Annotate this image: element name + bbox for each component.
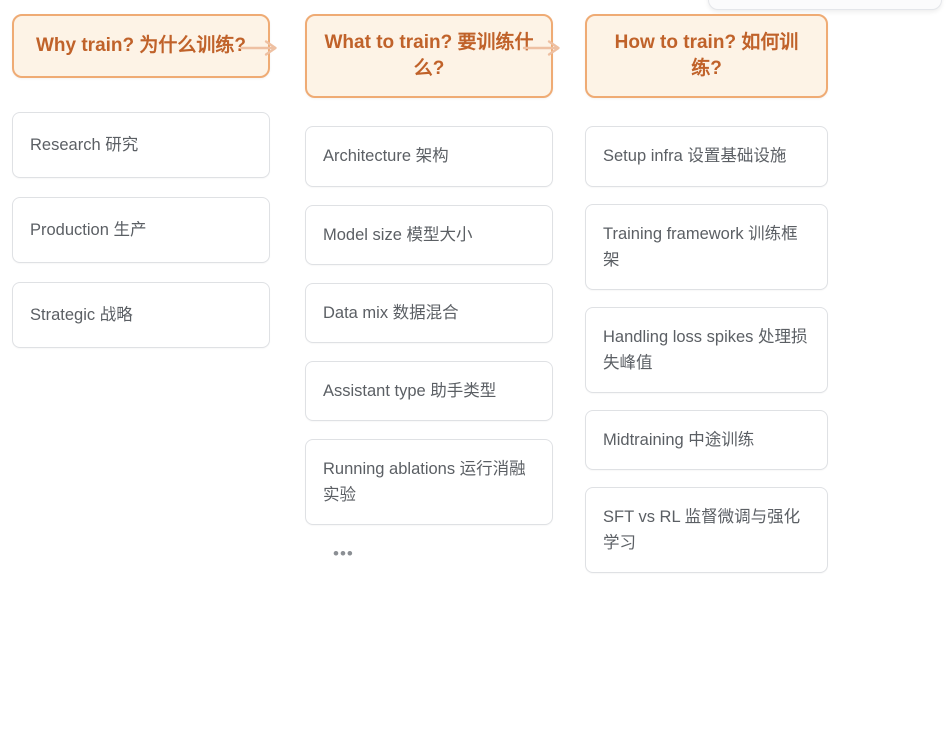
- column-header-what-to-train[interactable]: What to train? 要训练什么?: [305, 14, 553, 98]
- card-model-size[interactable]: Model size 模型大小: [305, 205, 553, 265]
- card-architecture[interactable]: Architecture 架构: [305, 126, 553, 186]
- arrow-right-icon: [239, 38, 283, 58]
- more-items-indicator[interactable]: •••: [305, 545, 553, 562]
- card-production[interactable]: Production 生产: [12, 197, 270, 263]
- card-data-mix[interactable]: Data mix 数据混合: [305, 283, 553, 343]
- column-items-what-to-train: Architecture 架构 Model size 模型大小 Data mix…: [305, 126, 553, 561]
- column-what-to-train: What to train? 要训练什么? Architecture 架构 Mo…: [305, 0, 553, 562]
- column-items-why-train: Research 研究 Production 生产 Strategic 战略: [12, 112, 270, 367]
- card-running-ablations[interactable]: Running ablations 运行消融实验: [305, 439, 553, 525]
- arrow-right-icon: [522, 38, 566, 58]
- card-handling-loss-spikes[interactable]: Handling loss spikes 处理损失峰值: [585, 307, 828, 393]
- column-why-train: Why train? 为什么训练? Research 研究 Production…: [12, 0, 270, 367]
- card-sft-vs-rl[interactable]: SFT vs RL 监督微调与强化学习: [585, 487, 828, 573]
- card-midtraining[interactable]: Midtraining 中途训练: [585, 410, 828, 470]
- card-setup-infra[interactable]: Setup infra 设置基础设施: [585, 126, 828, 186]
- card-strategic[interactable]: Strategic 战略: [12, 282, 270, 348]
- card-assistant-type[interactable]: Assistant type 助手类型: [305, 361, 553, 421]
- column-header-how-to-train[interactable]: How to train? 如何训练?: [585, 14, 828, 98]
- column-how-to-train: How to train? 如何训练? Setup infra 设置基础设施 T…: [585, 0, 828, 590]
- column-items-how-to-train: Setup infra 设置基础设施 Training framework 训练…: [585, 126, 828, 590]
- card-training-framework[interactable]: Training framework 训练框架: [585, 204, 828, 290]
- card-research[interactable]: Research 研究: [12, 112, 270, 178]
- column-header-why-train[interactable]: Why train? 为什么训练?: [12, 14, 270, 78]
- training-roadmap-board: Why train? 为什么训练? Research 研究 Production…: [0, 0, 950, 749]
